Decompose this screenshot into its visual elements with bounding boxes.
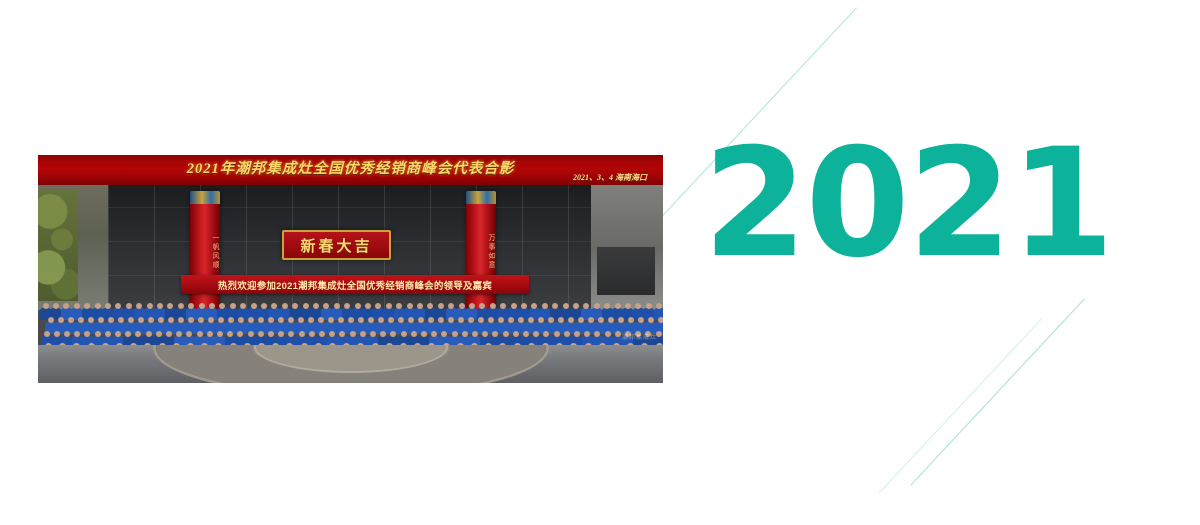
photo-watermark: 潮邦集成灶 (622, 332, 657, 341)
person-head (370, 331, 376, 337)
person-head (258, 317, 264, 323)
person-head (398, 317, 404, 323)
person-head (523, 331, 529, 337)
person-head (188, 317, 194, 323)
person-head (288, 317, 294, 323)
person-head (608, 317, 614, 323)
person-head (488, 317, 494, 323)
person-head (209, 303, 215, 309)
person-head (564, 331, 570, 337)
person-head (350, 331, 356, 337)
person-head (248, 331, 254, 337)
person-head (638, 317, 644, 323)
photo-banner-date-location: 2021、3、4 海南海口 (573, 172, 647, 183)
person-head (472, 331, 478, 337)
person-head (126, 303, 132, 309)
person-head (128, 317, 134, 323)
person-head (168, 317, 174, 323)
person-head (105, 331, 111, 337)
person-head (528, 317, 534, 323)
person-head (228, 317, 234, 323)
person-head (68, 317, 74, 323)
person-head (148, 317, 154, 323)
person-head (178, 303, 184, 309)
person-head (118, 317, 124, 323)
person-head (646, 303, 652, 309)
person-head (411, 331, 417, 337)
person-head (358, 317, 364, 323)
person-head (438, 317, 444, 323)
person-head (503, 331, 509, 337)
person-head (628, 317, 634, 323)
person-head (368, 317, 374, 323)
person-head (115, 331, 121, 337)
person-head (230, 303, 236, 309)
person-head (618, 317, 624, 323)
person-head (98, 317, 104, 323)
person-head (138, 317, 144, 323)
person-head (548, 317, 554, 323)
person-head (417, 303, 423, 309)
person-head (48, 317, 54, 323)
person-head (278, 317, 284, 323)
person-head (348, 317, 354, 323)
foliage (38, 189, 78, 301)
new-year-plaque: 新春大吉 (282, 230, 391, 260)
person-head (568, 317, 574, 323)
person-head (282, 303, 288, 309)
person-head (563, 303, 569, 309)
person-head (156, 331, 162, 337)
person-head (598, 317, 604, 323)
person-head (178, 317, 184, 323)
person-head (513, 331, 519, 337)
person-head (157, 303, 163, 309)
person-head (459, 303, 465, 309)
welcome-banner-text: 热烈欢迎参加2021潮邦集成灶全国优秀经销商峰会的领导及嘉宾 (218, 278, 492, 292)
welcome-banner: 热烈欢迎参加2021潮邦集成灶全国优秀经销商峰会的领导及嘉宾 (181, 275, 529, 294)
person-head (386, 303, 392, 309)
person-head (95, 331, 101, 337)
person-head (308, 317, 314, 323)
person-head (199, 303, 205, 309)
photo-banner-title: 2021年潮邦集成灶全国优秀经销商峰会代表合影 (38, 157, 663, 178)
decorative-diagonal-line-bottom-outer (910, 298, 1085, 485)
slide-canvas: 2021年潮邦集成灶全国优秀经销商峰会代表合影 2021、3、4 海南海口 一帆… (0, 0, 1200, 525)
person-head (554, 331, 560, 337)
person-head (478, 317, 484, 323)
person-head (248, 317, 254, 323)
person-head (313, 303, 319, 309)
photo-header-banner: 2021年潮邦集成灶全国优秀经销商峰会代表合影 2021、3、4 海南海口 (38, 155, 663, 185)
person-head (355, 303, 361, 309)
person-head (490, 303, 496, 309)
person-head (615, 331, 621, 337)
person-head (74, 303, 80, 309)
person-head (309, 331, 315, 337)
person-head (508, 317, 514, 323)
person-head (268, 317, 274, 323)
person-head (58, 317, 64, 323)
person-head (303, 303, 309, 309)
person-head (43, 303, 49, 309)
person-head (88, 317, 94, 323)
person-head (615, 303, 621, 309)
person-head (428, 317, 434, 323)
person-head (334, 303, 340, 309)
person-head (468, 317, 474, 323)
person-head (108, 317, 114, 323)
person-head (360, 331, 366, 337)
person-head (328, 317, 334, 323)
person-head (146, 331, 152, 337)
person-head (166, 331, 172, 337)
year-heading: 2021 (703, 129, 1112, 279)
person-head (207, 331, 213, 337)
person-head (407, 303, 413, 309)
person-head (268, 331, 274, 337)
person-head (578, 317, 584, 323)
plaza-floor (38, 345, 663, 383)
person-head (421, 331, 427, 337)
person-head (625, 303, 631, 309)
person-head (378, 317, 384, 323)
right-wall (591, 185, 663, 310)
person-head (521, 303, 527, 309)
person-head (452, 331, 458, 337)
person-head (574, 331, 580, 337)
person-head (573, 303, 579, 309)
person-head (458, 317, 464, 323)
person-head (542, 303, 548, 309)
person-head (251, 303, 257, 309)
person-head (197, 331, 203, 337)
person-head (594, 303, 600, 309)
person-head (538, 317, 544, 323)
person-head (648, 317, 654, 323)
person-head (54, 331, 60, 337)
person-head (258, 331, 264, 337)
person-head (318, 317, 324, 323)
person-head (448, 317, 454, 323)
person-head (158, 317, 164, 323)
person-head (658, 317, 664, 323)
person-head (408, 317, 414, 323)
person-head (218, 317, 224, 323)
person-head (338, 317, 344, 323)
person-head (401, 331, 407, 337)
person-head (299, 331, 305, 337)
person-head (518, 317, 524, 323)
person-head (511, 303, 517, 309)
person-head (217, 331, 223, 337)
person-head (388, 317, 394, 323)
person-head (558, 317, 564, 323)
person-head (469, 303, 475, 309)
person-head (208, 317, 214, 323)
person-head (605, 331, 611, 337)
person-head (498, 317, 504, 323)
person-head (261, 303, 267, 309)
person-head (105, 303, 111, 309)
person-head (238, 317, 244, 323)
person-head (438, 303, 444, 309)
person-head (147, 303, 153, 309)
person-head (44, 331, 50, 337)
building-backdrop: 一帆风顺 万事如意 新春大吉 热烈欢迎参加2021潮邦集成灶全国优秀经销商峰会的… (38, 185, 663, 310)
person-head (78, 317, 84, 323)
decorative-diagonal-line-bottom-inner (878, 317, 1043, 493)
plaque-text: 新春大吉 (300, 235, 372, 256)
person-head (53, 303, 59, 309)
person-head (588, 317, 594, 323)
person-head (418, 317, 424, 323)
person-head (319, 331, 325, 337)
person-head (64, 331, 70, 337)
person-head (298, 317, 304, 323)
group-photo: 2021年潮邦集成灶全国优秀经销商峰会代表合影 2021、3、4 海南海口 一帆… (38, 155, 663, 383)
person-head (198, 317, 204, 323)
person-head (365, 303, 371, 309)
person-head (462, 331, 468, 337)
person-head (95, 303, 101, 309)
